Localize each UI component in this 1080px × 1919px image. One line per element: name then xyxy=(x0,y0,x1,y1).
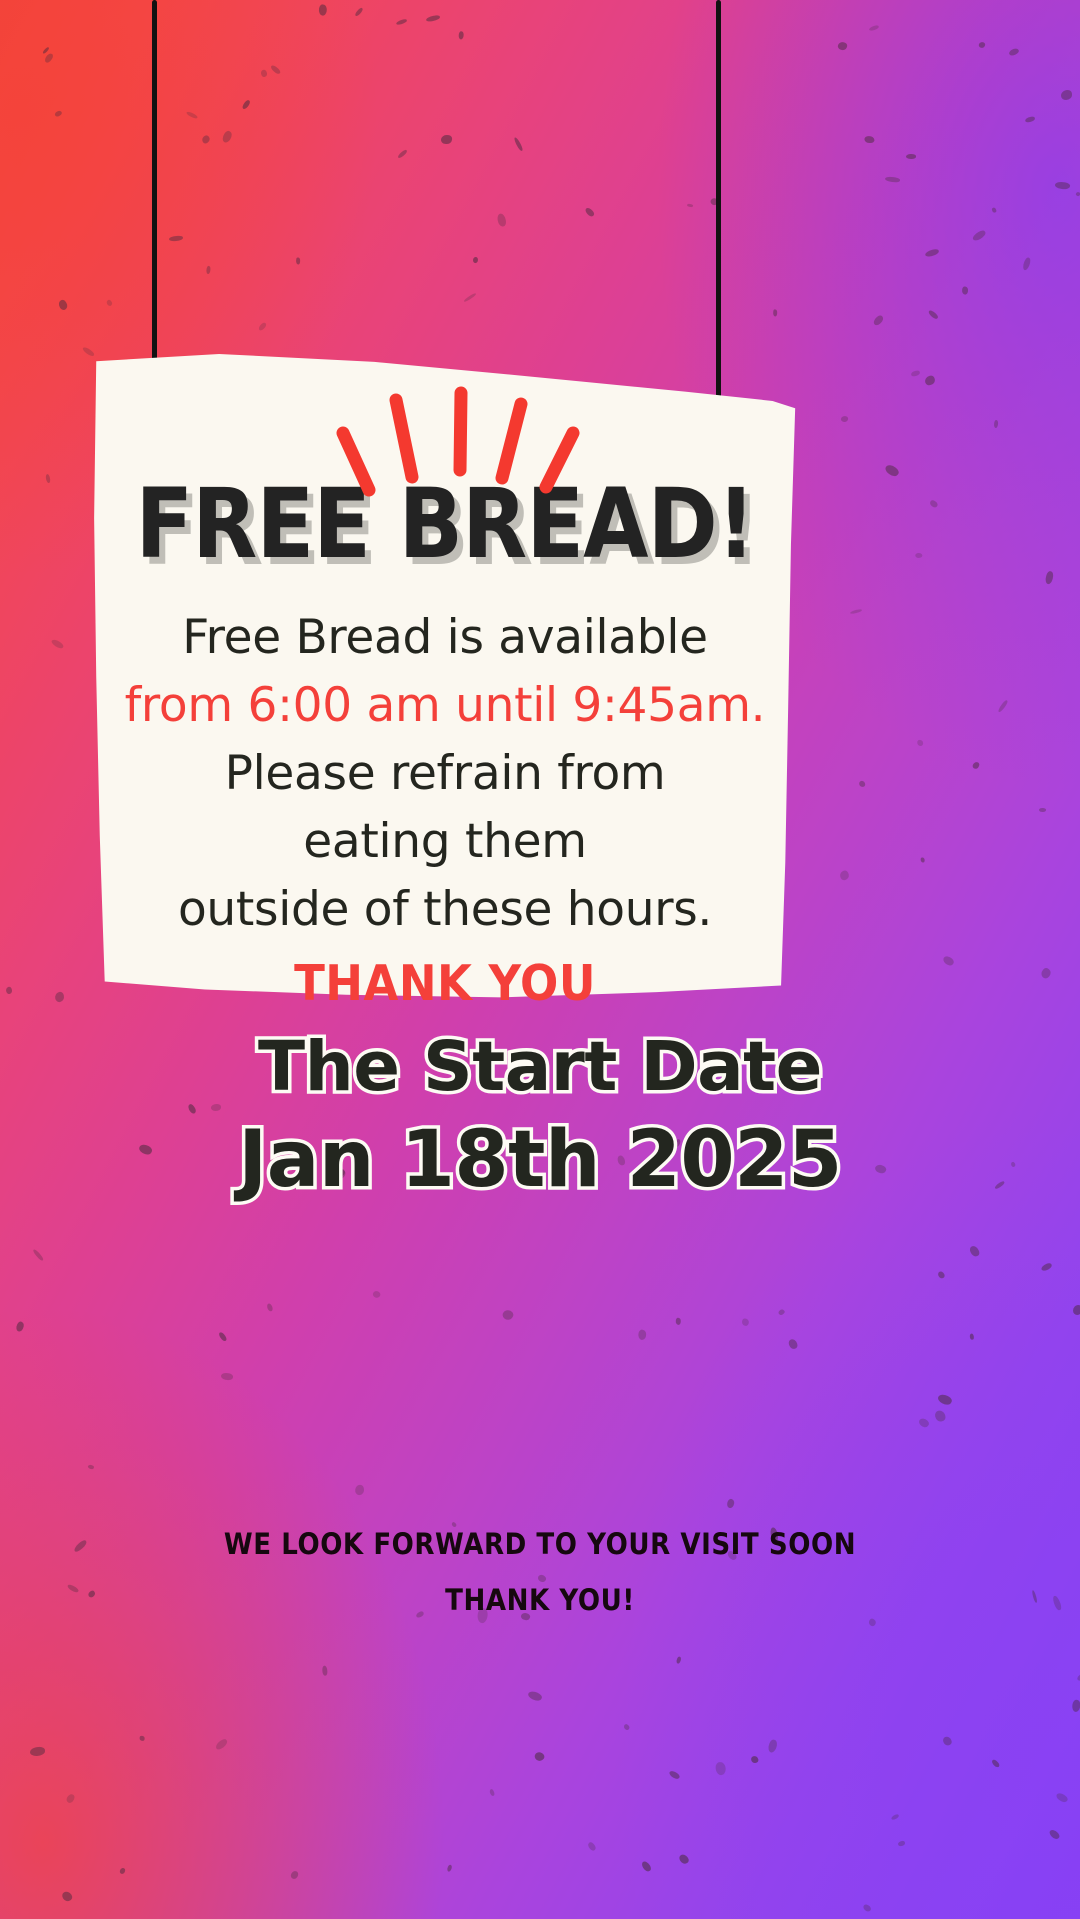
poster-canvas: FREE BREAD! Free Bread is available from… xyxy=(0,0,1080,1919)
sign-content: FREE BREAD! Free Bread is available from… xyxy=(92,346,798,1008)
sign-body: Free Bread is available from 6:00 am unt… xyxy=(92,604,798,1018)
footer-line-thanks: THANK YOU! xyxy=(54,1572,1026,1628)
sign-thanks-text: THANK YOU xyxy=(120,950,770,1018)
body-line-hours: from 6:00 am until 9:45am. xyxy=(92,672,798,740)
body-line-3: Please refrain from xyxy=(92,740,798,808)
body-line-1: Free Bread is available xyxy=(92,604,798,672)
sunburst-rays-icon xyxy=(92,372,798,497)
start-date-label: The Start Date xyxy=(0,1022,1080,1112)
footer-line-visit: WE LOOK FORWARD TO YOUR VISIT SOON xyxy=(54,1516,1026,1572)
hanging-string-left xyxy=(152,0,157,390)
body-line-5: outside of these hours. xyxy=(92,876,798,944)
body-line-4: eating them xyxy=(92,808,798,876)
sign-card: FREE BREAD! Free Bread is available from… xyxy=(92,346,798,1008)
footer-block: WE LOOK FORWARD TO YOUR VISIT SOON THANK… xyxy=(0,1516,1080,1628)
start-date-value: Jan 18th 2025 xyxy=(0,1112,1080,1208)
start-date-block: The Start Date Jan 18th 2025 xyxy=(0,1022,1080,1208)
